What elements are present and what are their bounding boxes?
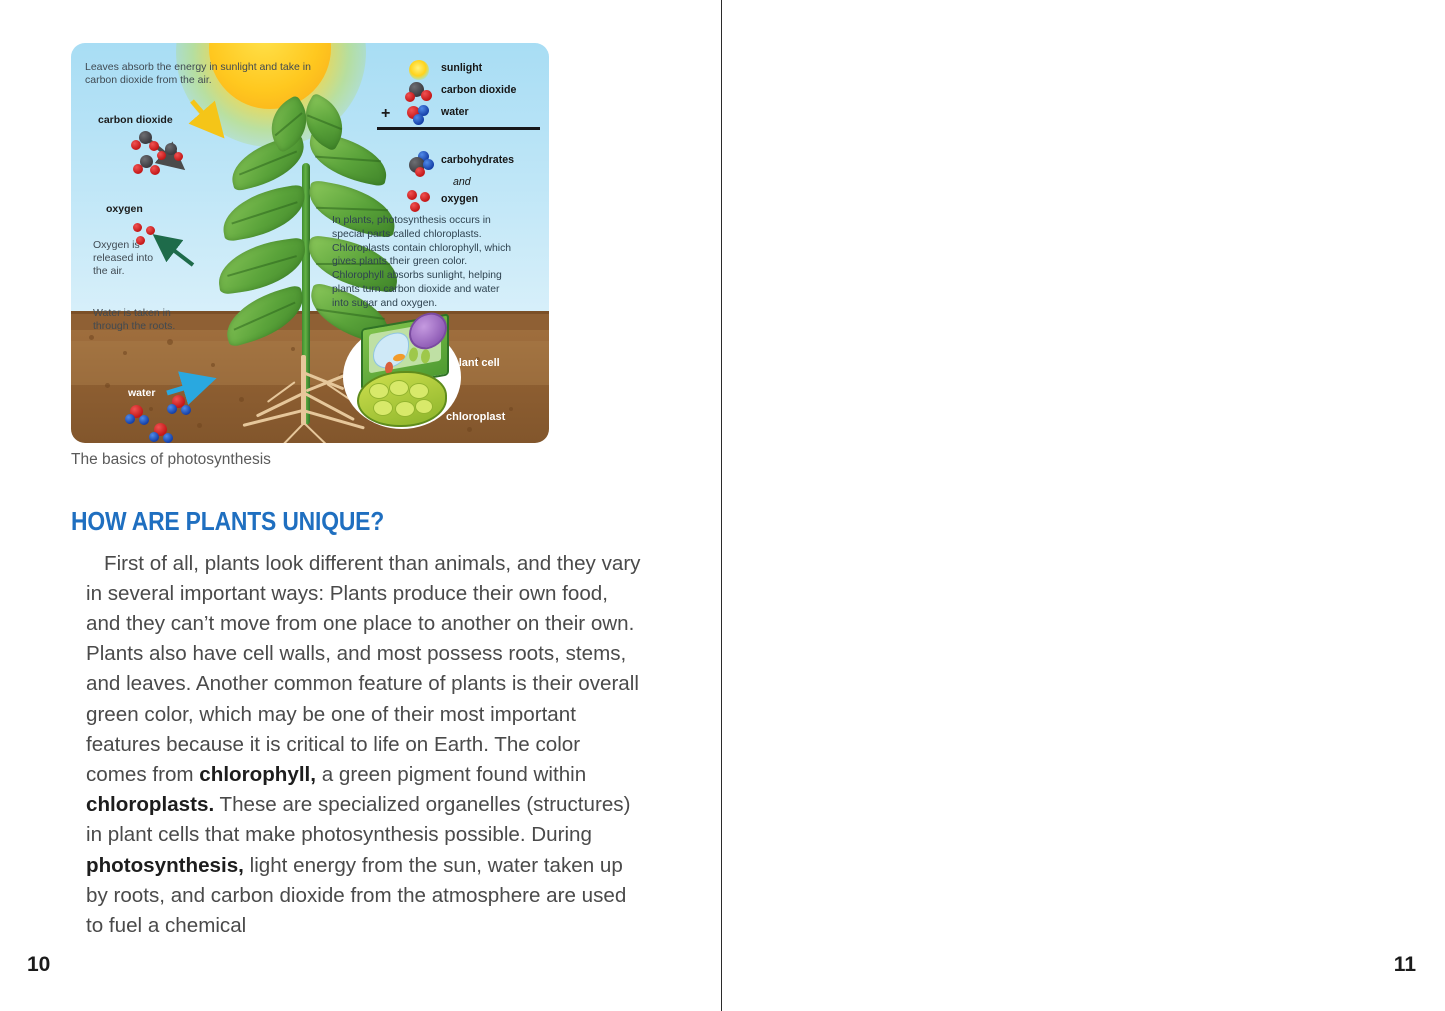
legend-item-and: and [393,173,543,190]
photosynthesis-figure: Leaves absorb the energy in sunlight and… [71,43,549,443]
figure-caption: The basics of photosynthesis [71,451,271,469]
legend-label: carbon dioxide [441,84,516,96]
chloroplast-illustration [357,371,447,427]
carbon-dioxide-molecule-icon [133,155,167,177]
legend-label-and: and [453,176,471,188]
oxygen-molecule-icon [133,223,159,249]
sunlight-icon [409,60,429,80]
legend-label: carbohydrates [441,154,514,166]
oxygen-molecule-icon [407,190,435,214]
carbon-dioxide-molecule-icon [405,82,437,104]
water-molecule-icon [405,105,437,127]
page-left: Leaves absorb the energy in sunlight and… [0,0,721,1011]
water-molecule-icon [167,395,197,417]
legend-label: oxygen [441,193,478,205]
figure-note-water: Water is taken in through the roots. [93,307,197,333]
water-molecule-icon [149,423,179,443]
left-column-body: First of all, plants look different than… [86,528,642,962]
book-spread: Leaves absorb the energy in sunlight and… [0,0,1445,1011]
figure-label-oxygen: oxygen [106,203,143,216]
plant-cell-inset [343,313,473,435]
legend-item-sunlight: sunlight [393,59,543,81]
legend-item-carbon-dioxide: carbon dioxide [393,81,543,103]
figure-intro-text: Leaves absorb the energy in sunlight and… [85,61,335,87]
figure-label-water: water [128,387,155,400]
figure-legend: + sunlight carbon dioxide [393,59,543,212]
legend-item-oxygen: oxygen [393,190,543,212]
page-number-right: 11 [1394,953,1416,977]
legend-divider-rule [377,127,540,130]
nucleus-icon [409,310,447,353]
page-right: reaction that produces sugar (glucose) a… [722,0,1445,1011]
legend-label: water [441,106,469,118]
paragraph: First of all, plants look different than… [86,549,642,942]
figure-label-carbon-dioxide: carbon dioxide [98,114,173,127]
legend-label: sunlight [441,62,482,74]
legend-item-water: water [393,103,543,125]
legend-plus-sign: + [381,105,390,123]
figure-explanation: In plants, photosynthesis occurs in spec… [332,214,514,311]
page-number-left: 10 [27,953,50,977]
legend-item-carbohydrates: carbohydrates [393,151,543,173]
